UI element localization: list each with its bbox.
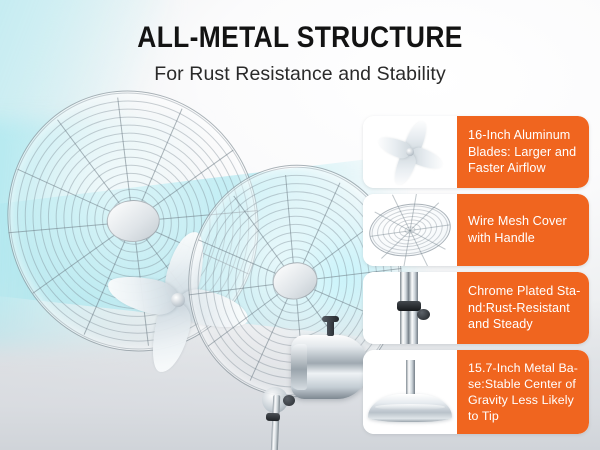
- page-title: ALL-METAL STRUCTURE: [36, 22, 564, 54]
- feature-image-base: [363, 350, 457, 434]
- pole-collar: [266, 413, 280, 422]
- mesh-rings: [367, 200, 453, 261]
- feature-label-base: 15.7-Inch Metal Ba-se:Stable Center of G…: [457, 350, 589, 434]
- feature-image-mesh-cover: [363, 194, 457, 266]
- motor-housing-icon: [291, 335, 369, 399]
- feature-label-stand: Chrome Plated Sta-nd:Rust-Resistant and …: [457, 272, 589, 344]
- feature-card-mesh-cover[interactable]: Wire Mesh Cover with Handle: [363, 194, 589, 266]
- motor-knob-icon: [327, 320, 334, 336]
- chrome-stand-icon: [387, 272, 433, 344]
- headline-block: ALL-METAL STRUCTURE For Rust Resistance …: [0, 22, 600, 86]
- feature-card-stand[interactable]: Chrome Plated Sta-nd:Rust-Resistant and …: [363, 272, 589, 344]
- grille-ring: [368, 201, 451, 260]
- feature-image-stand: [363, 272, 457, 344]
- stand-collar-icon: [397, 301, 421, 311]
- fan-blades-icon: [371, 125, 449, 179]
- metal-base-icon: [368, 360, 452, 422]
- feature-card-blades[interactable]: 16-Inch Aluminum Blades: Larger and Fast…: [363, 116, 589, 188]
- feature-image-blades: [363, 116, 457, 188]
- product-feature-banner: ALL-METAL STRUCTURE For Rust Resistance …: [0, 0, 600, 450]
- feature-list: 16-Inch Aluminum Blades: Larger and Fast…: [363, 116, 589, 440]
- wire-mesh-cover-icon: [366, 199, 454, 262]
- hero-product-image: [0, 95, 370, 450]
- stand-knob-icon: [417, 309, 430, 320]
- feature-card-base[interactable]: 15.7-Inch Metal Ba-se:Stable Center of G…: [363, 350, 589, 434]
- page-subtitle: For Rust Resistance and Stability: [0, 63, 600, 86]
- feature-label-blades: 16-Inch Aluminum Blades: Larger and Fast…: [457, 116, 589, 188]
- feature-label-mesh-cover: Wire Mesh Cover with Handle: [457, 194, 589, 266]
- tilt-knob-icon: [283, 395, 295, 406]
